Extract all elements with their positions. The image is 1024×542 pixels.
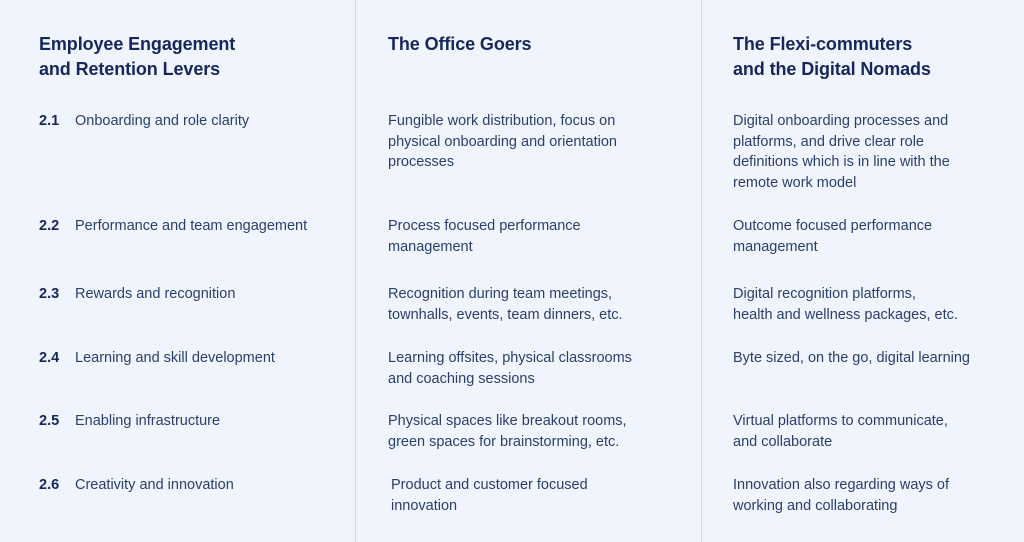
- text-line: Digital onboarding processes and: [733, 111, 1018, 132]
- text-line: management: [388, 237, 688, 258]
- text-line: processes: [388, 152, 688, 173]
- office-goers-cell-2-6: Product and customer focused innovation: [391, 475, 691, 516]
- lever-label: Enabling infrastructure: [75, 411, 220, 431]
- office-goers-cell-2-2: Process focused performance management: [388, 216, 688, 257]
- office-goers-cell-2-1: Fungible work distribution, focus on phy…: [388, 111, 688, 173]
- lever-row-2-5: 2.5 Enabling infrastructure: [39, 411, 349, 431]
- text-line: Virtual platforms to communicate,: [733, 411, 1018, 432]
- office-goers-cell-2-5: Physical spaces like breakout rooms, gre…: [388, 411, 688, 452]
- lever-row-2-3: 2.3 Rewards and recognition: [39, 284, 349, 304]
- column-heading-flexi-nomads: The Flexi-commuters and the Digital Noma…: [733, 32, 1023, 82]
- column-levers: Employee Engagement and Retention Levers…: [0, 0, 355, 542]
- text-line: Innovation also regarding ways of: [733, 475, 1018, 496]
- comparison-table: Employee Engagement and Retention Levers…: [0, 0, 1024, 542]
- text-line: and coaching sessions: [388, 369, 688, 390]
- lever-label: Onboarding and role clarity: [75, 111, 249, 131]
- flexi-nomads-cell-2-1: Digital onboarding processes and platfor…: [733, 111, 1018, 193]
- heading-line: and the Digital Nomads: [733, 57, 1023, 82]
- text-line: Outcome focused performance: [733, 216, 1018, 237]
- lever-number: 2.6: [39, 477, 75, 493]
- text-line: Fungible work distribution, focus on: [388, 111, 688, 132]
- lever-row-2-2: 2.2 Performance and team engagement: [39, 216, 349, 236]
- text-line: Process focused performance: [388, 216, 688, 237]
- lever-number: 2.2: [39, 218, 75, 234]
- lever-label: Rewards and recognition: [75, 284, 235, 304]
- text-line: platforms, and drive clear role: [733, 132, 1018, 153]
- text-line: green spaces for brainstorming, etc.: [388, 432, 688, 453]
- column-flexi-nomads: The Flexi-commuters and the Digital Noma…: [702, 0, 1024, 542]
- text-line: health and wellness packages, etc.: [733, 305, 1018, 326]
- lever-label: Creativity and innovation: [75, 475, 234, 495]
- text-line: working and collaborating: [733, 496, 1018, 517]
- flexi-nomads-cell-2-6: Innovation also regarding ways of workin…: [733, 475, 1018, 516]
- text-line: townhalls, events, team dinners, etc.: [388, 305, 688, 326]
- column-office-goers: The Office Goers Fungible work distribut…: [356, 0, 701, 542]
- text-line: Digital recognition platforms,: [733, 284, 1018, 305]
- text-line: innovation: [391, 496, 691, 517]
- column-heading-levers: Employee Engagement and Retention Levers: [39, 32, 339, 82]
- lever-number: 2.3: [39, 286, 75, 302]
- lever-label: Learning and skill development: [75, 348, 275, 368]
- text-line: Physical spaces like breakout rooms,: [388, 411, 688, 432]
- lever-row-2-1: 2.1 Onboarding and role clarity: [39, 111, 349, 131]
- heading-line: The Office Goers: [388, 32, 688, 57]
- flexi-nomads-cell-2-3: Digital recognition platforms, health an…: [733, 284, 1018, 325]
- text-line: remote work model: [733, 173, 1018, 194]
- flexi-nomads-cell-2-5: Virtual platforms to communicate, and co…: [733, 411, 1018, 452]
- text-line: Recognition during team meetings,: [388, 284, 688, 305]
- text-line: and collaborate: [733, 432, 1018, 453]
- office-goers-cell-2-4: Learning offsites, physical classrooms a…: [388, 348, 688, 389]
- column-heading-office-goers: The Office Goers: [388, 32, 688, 57]
- lever-number: 2.1: [39, 113, 75, 129]
- heading-line: Employee Engagement: [39, 32, 339, 57]
- flexi-nomads-cell-2-4: Byte sized, on the go, digital learning: [733, 348, 1018, 369]
- lever-label: Performance and team engagement: [75, 216, 307, 236]
- lever-row-2-4: 2.4 Learning and skill development: [39, 348, 349, 368]
- text-line: physical onboarding and orientation: [388, 132, 688, 153]
- lever-row-2-6: 2.6 Creativity and innovation: [39, 475, 349, 495]
- text-line: Learning offsites, physical classrooms: [388, 348, 688, 369]
- lever-number: 2.5: [39, 413, 75, 429]
- heading-line: and Retention Levers: [39, 57, 339, 82]
- text-line: definitions which is in line with the: [733, 152, 1018, 173]
- text-line: Byte sized, on the go, digital learning: [733, 348, 1018, 369]
- text-line: Product and customer focused: [391, 475, 691, 496]
- office-goers-cell-2-3: Recognition during team meetings, townha…: [388, 284, 688, 325]
- heading-line: The Flexi-commuters: [733, 32, 1023, 57]
- lever-number: 2.4: [39, 350, 75, 366]
- text-line: management: [733, 237, 1018, 258]
- flexi-nomads-cell-2-2: Outcome focused performance management: [733, 216, 1018, 257]
